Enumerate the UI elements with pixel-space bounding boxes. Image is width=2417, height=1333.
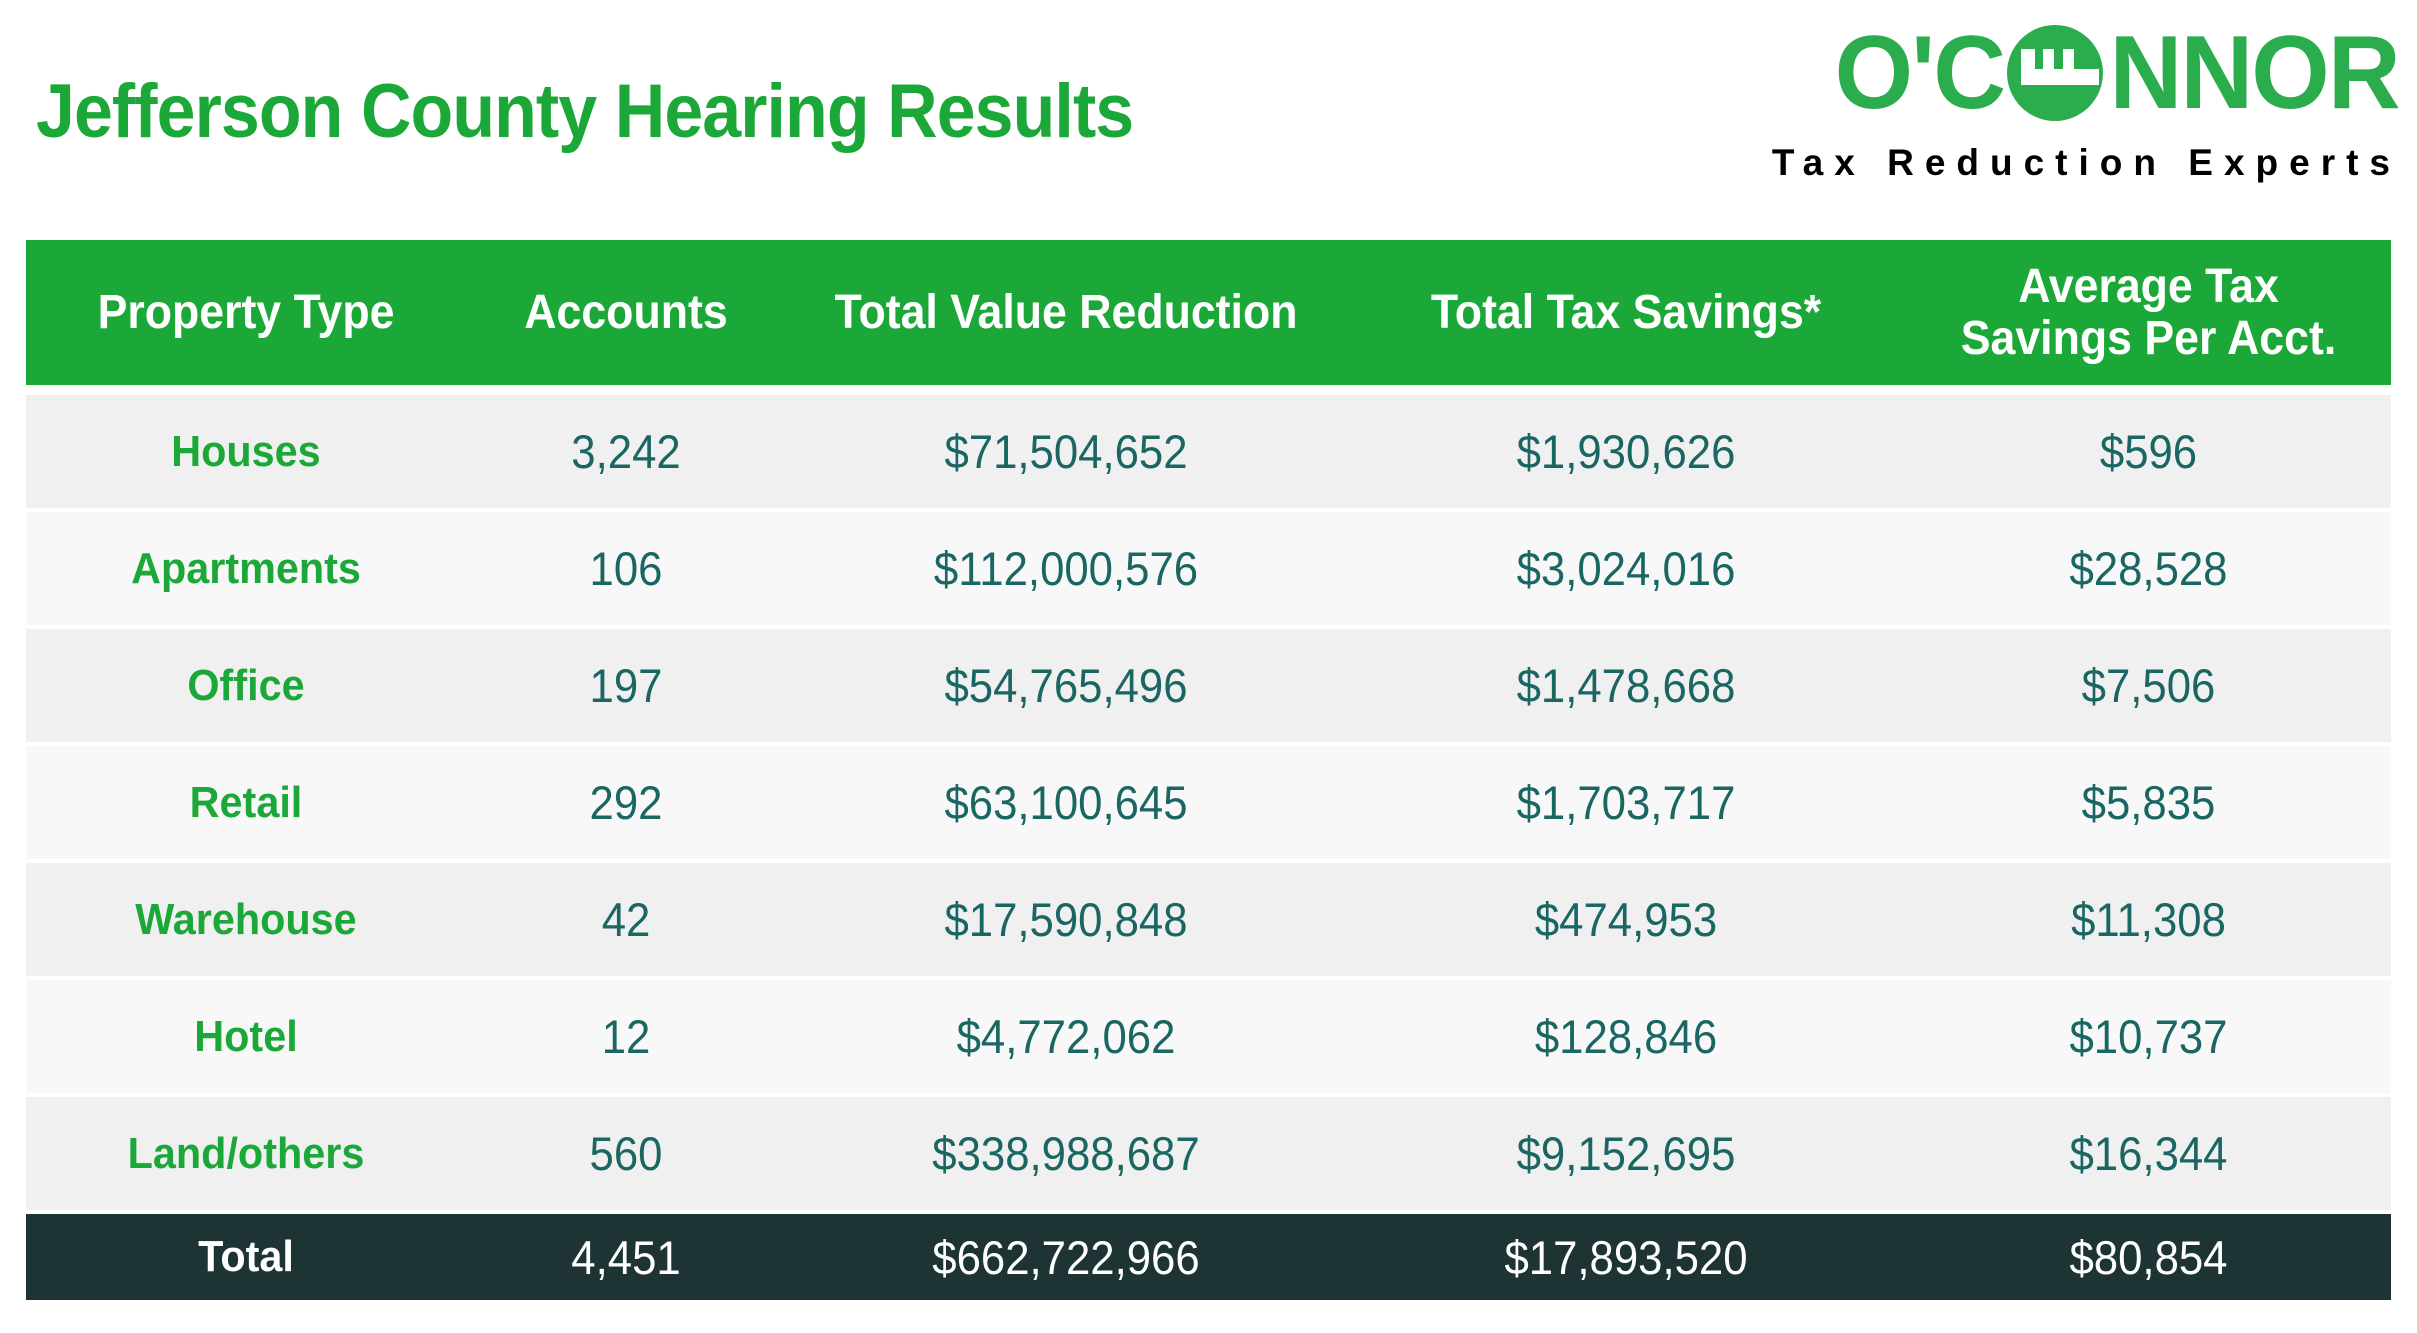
cell-accounts: 106 xyxy=(477,541,775,596)
table-row: Apartments 106 $112,000,576 $3,024,016 $… xyxy=(26,512,2391,625)
cell-total-value-reduction: $112,000,576 xyxy=(806,541,1327,596)
cell-total-value-reduction: $4,772,062 xyxy=(806,1009,1327,1064)
column-header-property-type: Property Type xyxy=(41,287,450,339)
cell-total-value-reduction: $17,590,848 xyxy=(806,892,1327,947)
table-row: Retail 292 $63,100,645 $1,703,717 $5,835 xyxy=(26,746,2391,859)
table-row: Hotel 12 $4,772,062 $128,846 $10,737 xyxy=(26,980,2391,1093)
total-average-tax-savings: $80,854 xyxy=(1923,1230,2374,1285)
logo-text-suffix: NNOR xyxy=(2109,21,2398,125)
cell-total-value-reduction: $338,988,687 xyxy=(806,1126,1327,1181)
cell-accounts: 3,242 xyxy=(477,424,775,479)
cell-total-tax-savings: $3,024,016 xyxy=(1366,541,1887,596)
column-header-average-tax-savings: Average Tax Savings Per Acct. xyxy=(1923,261,2374,365)
cell-average-tax-savings: $7,506 xyxy=(1923,658,2374,713)
cell-total-value-reduction: $63,100,645 xyxy=(806,775,1327,830)
total-value-reduction: $662,722,966 xyxy=(806,1230,1327,1285)
key-icon xyxy=(2007,25,2103,121)
hearing-results-infographic: Jefferson County Hearing Results O'C NNO… xyxy=(0,0,2417,1333)
cell-average-tax-savings: $28,528 xyxy=(1923,541,2374,596)
total-tax-savings: $17,893,520 xyxy=(1366,1230,1887,1285)
cell-total-value-reduction: $54,765,496 xyxy=(806,658,1327,713)
key-shaft-shape xyxy=(2021,69,2099,85)
logo-text-prefix: O'C xyxy=(1835,21,2004,125)
cell-accounts: 197 xyxy=(477,658,775,713)
total-label: Total xyxy=(39,1232,453,1282)
cell-accounts: 292 xyxy=(477,775,775,830)
cell-property-type: Retail xyxy=(39,778,453,828)
table-row: Office 197 $54,765,496 $1,478,668 $7,506 xyxy=(26,629,2391,742)
page-title: Jefferson County Hearing Results xyxy=(36,68,1133,155)
column-header-accounts: Accounts xyxy=(477,287,775,339)
cell-property-type: Office xyxy=(39,661,453,711)
table-row: Houses 3,242 $71,504,652 $1,930,626 $596 xyxy=(26,395,2391,508)
cell-accounts: 12 xyxy=(477,1009,775,1064)
cell-total-tax-savings: $1,703,717 xyxy=(1366,775,1887,830)
logo-tagline: Tax Reduction Experts xyxy=(1772,142,2401,184)
cell-total-tax-savings: $128,846 xyxy=(1366,1009,1887,1064)
cell-property-type: Land/others xyxy=(39,1129,453,1179)
cell-total-tax-savings: $1,930,626 xyxy=(1366,424,1887,479)
cell-property-type: Apartments xyxy=(39,544,453,594)
cell-average-tax-savings: $5,835 xyxy=(1923,775,2374,830)
column-header-total-tax-savings: Total Tax Savings* xyxy=(1366,287,1887,339)
table-header-row: Property Type Accounts Total Value Reduc… xyxy=(26,240,2391,385)
cell-accounts: 560 xyxy=(477,1126,775,1181)
oconnor-logo: O'C NNOR Tax Reduction Experts xyxy=(1643,14,2403,204)
cell-property-type: Warehouse xyxy=(39,895,453,945)
cell-property-type: Hotel xyxy=(39,1012,453,1062)
cell-total-value-reduction: $71,504,652 xyxy=(806,424,1327,479)
cell-average-tax-savings: $596 xyxy=(1923,424,2374,479)
cell-total-tax-savings: $474,953 xyxy=(1366,892,1887,947)
table-row: Land/others 560 $338,988,687 $9,152,695 … xyxy=(26,1097,2391,1210)
cell-average-tax-savings: $11,308 xyxy=(1923,892,2374,947)
cell-total-tax-savings: $1,478,668 xyxy=(1366,658,1887,713)
cell-total-tax-savings: $9,152,695 xyxy=(1366,1126,1887,1181)
table-row: Warehouse 42 $17,590,848 $474,953 $11,30… xyxy=(26,863,2391,976)
header-bar: Jefferson County Hearing Results O'C NNO… xyxy=(0,0,2417,232)
logo-wordmark: O'C NNOR xyxy=(1832,14,2403,132)
cell-average-tax-savings: $10,737 xyxy=(1923,1009,2374,1064)
total-accounts: 4,451 xyxy=(477,1230,775,1285)
column-header-total-value-reduction: Total Value Reduction xyxy=(806,287,1327,339)
table-total-row: Total 4,451 $662,722,966 $17,893,520 $80… xyxy=(26,1214,2391,1300)
cell-property-type: Houses xyxy=(39,427,453,477)
cell-accounts: 42 xyxy=(477,892,775,947)
results-table: Property Type Accounts Total Value Reduc… xyxy=(26,240,2391,1300)
cell-average-tax-savings: $16,344 xyxy=(1923,1126,2374,1181)
